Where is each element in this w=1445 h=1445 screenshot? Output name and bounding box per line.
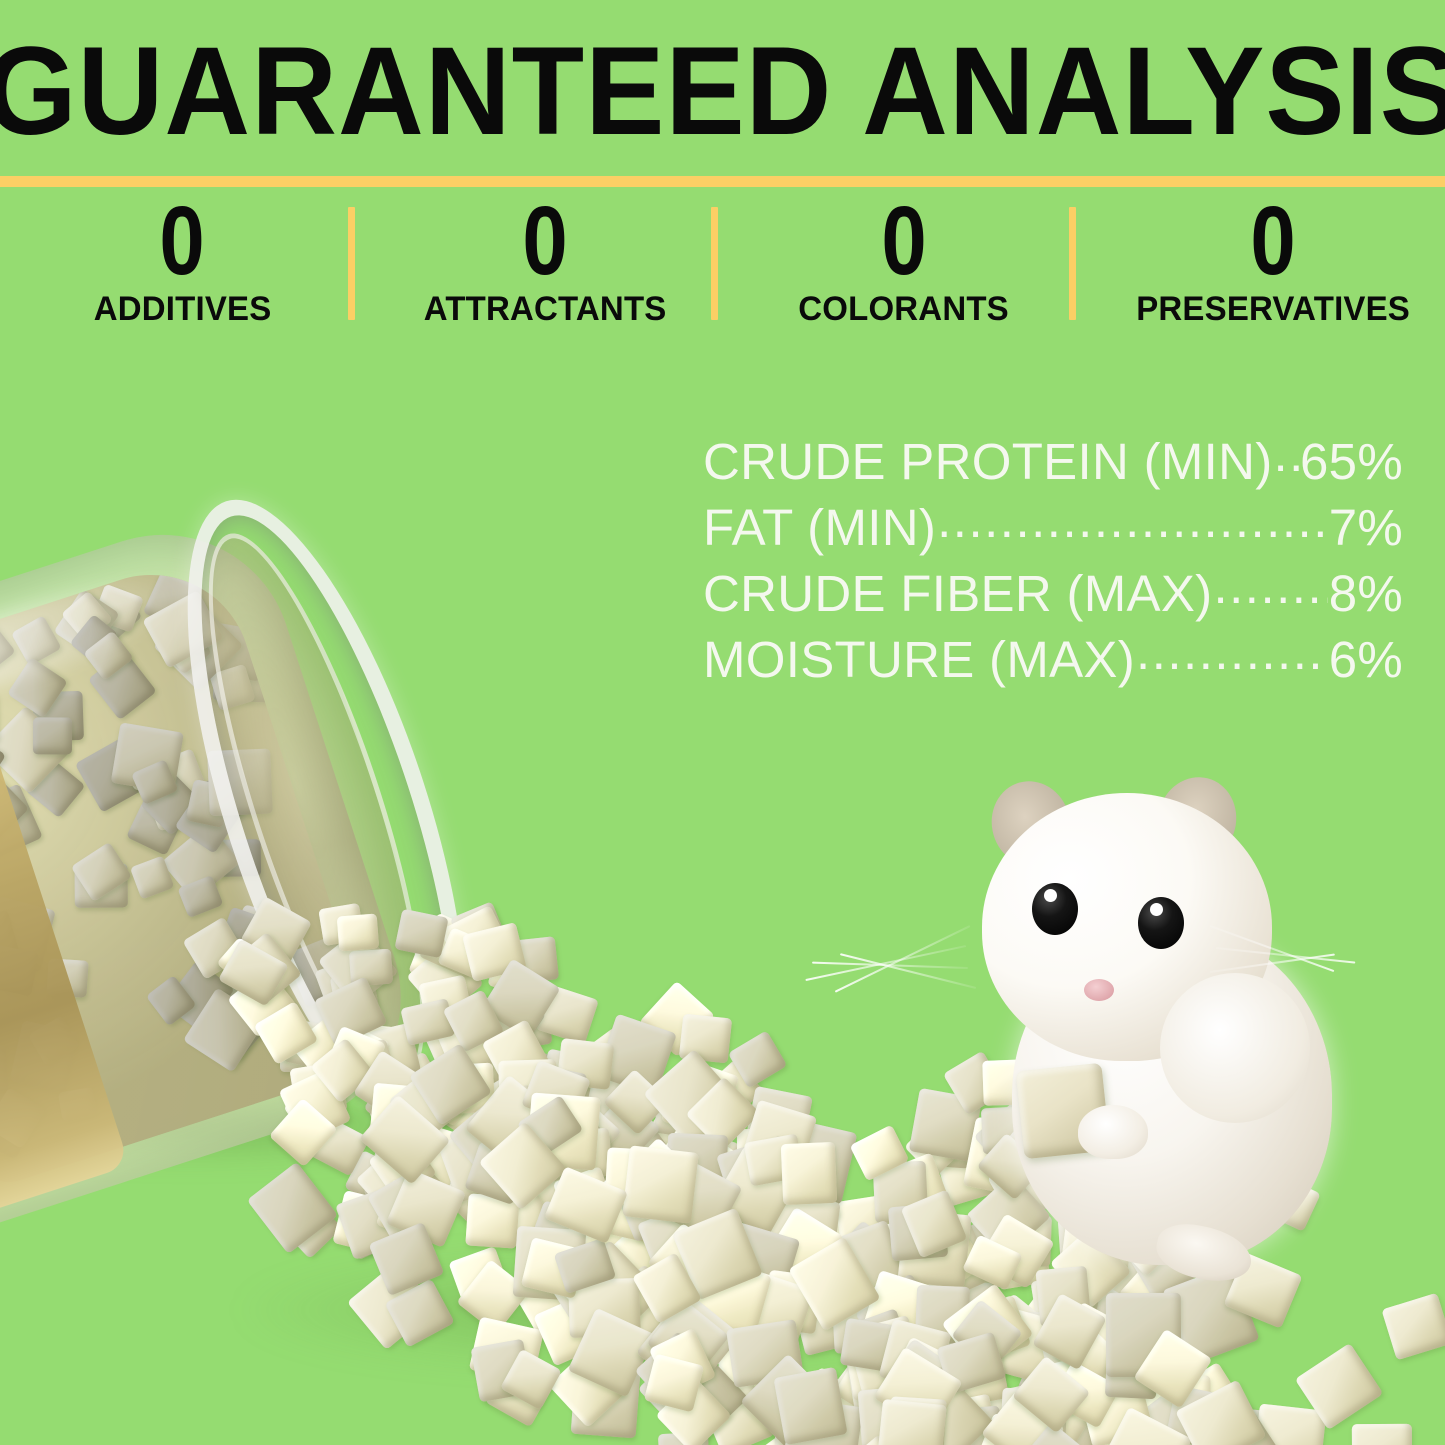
treat-cube (873, 1161, 929, 1224)
treat-cube (388, 1057, 476, 1143)
treat-cube (219, 839, 261, 876)
jar-body (0, 501, 434, 1254)
treat-cube (183, 988, 267, 1073)
treat-cube (1050, 1361, 1120, 1429)
treat-cube (1057, 1321, 1122, 1386)
treat-cube (521, 1059, 591, 1125)
treat-cube (874, 1393, 936, 1445)
stat-value: 0 (522, 196, 567, 286)
treat-cube (775, 1414, 829, 1445)
treat-cube (548, 1350, 625, 1428)
treat-cube (725, 1169, 792, 1236)
treat-cube (593, 1301, 666, 1372)
treat-cube (385, 1051, 447, 1114)
treat-cube (899, 1237, 971, 1308)
treat-cube (0, 1045, 8, 1096)
treat-cube (10, 1020, 79, 1093)
treat-cube (419, 1006, 482, 1070)
treat-cube (866, 1261, 925, 1324)
treat-cube (878, 1319, 951, 1392)
treat-cube (498, 1059, 557, 1114)
treat-cube (385, 1279, 455, 1348)
treat-cube (998, 1320, 1051, 1367)
treat-cube (126, 801, 183, 856)
treat-cube (448, 1097, 528, 1177)
treat-cube (1253, 1403, 1327, 1445)
treat-cube (685, 1076, 760, 1151)
treat-cube (1069, 1397, 1147, 1445)
treat-cube (927, 1307, 989, 1361)
hamster-paw (1078, 1105, 1148, 1159)
treat-cube (900, 1189, 966, 1258)
treat-cube (646, 1299, 729, 1382)
treat-cube (836, 1411, 904, 1445)
treat-cube (0, 944, 39, 996)
treat-cube (366, 1171, 438, 1244)
treat-cube (833, 1341, 917, 1425)
treat-cube (533, 1296, 599, 1366)
treat-cube (844, 1308, 914, 1376)
treat-cube (1057, 1211, 1110, 1263)
treat-cube (1031, 1273, 1096, 1331)
hamster-nose (1084, 979, 1114, 1001)
treat-cube (921, 1317, 1015, 1412)
treat-cube (982, 1126, 1067, 1209)
treat-cube (497, 1090, 574, 1167)
treat-cube (0, 776, 29, 843)
treat-cube (1076, 1355, 1150, 1421)
analysis-dot-leader (1136, 626, 1328, 677)
treat-cube (448, 1246, 510, 1307)
hamster-eye-glint-left (1044, 889, 1057, 902)
treat-cube (643, 1170, 718, 1245)
treat-cube (1106, 1293, 1181, 1377)
treat-cube (743, 1133, 804, 1185)
treat-cube (954, 1294, 1031, 1365)
treat-cube (1165, 1385, 1240, 1445)
treat-cube (844, 1336, 919, 1402)
treat-cube (614, 1170, 686, 1242)
treat-cube (754, 1224, 820, 1290)
treat-cube (973, 1090, 1075, 1193)
treat-cube (25, 758, 86, 818)
treat-cube (353, 1050, 425, 1122)
treat-cube (752, 1239, 823, 1310)
treat-cube (763, 1207, 844, 1289)
treat-cube (229, 931, 302, 1004)
treat-cube (470, 1339, 532, 1403)
treat-cube (345, 1022, 403, 1078)
treat-cube (970, 1299, 1049, 1373)
treat-cube (58, 1087, 97, 1121)
treat-cube (1055, 1419, 1145, 1445)
treat-cube (333, 1025, 392, 1083)
analysis-nutrient-value: 65% (1300, 429, 1403, 494)
treat-cube (815, 1356, 909, 1445)
treat-cube (174, 779, 246, 854)
treat-cube (844, 1336, 915, 1412)
treat-cube (681, 1286, 761, 1365)
treat-cube (914, 1284, 969, 1343)
treat-cube (652, 1134, 743, 1227)
treat-cube (1057, 1274, 1147, 1360)
treat-cube (1143, 1279, 1196, 1330)
treat-cube (746, 1428, 823, 1445)
treat-cube (1001, 1214, 1051, 1267)
treat-cube (83, 587, 142, 646)
treat-cube (0, 808, 10, 848)
treat-cube (661, 1057, 740, 1140)
treat-cube (704, 1275, 760, 1331)
treat-cube (416, 1059, 471, 1110)
treat-cube (126, 745, 169, 790)
treat-cube (862, 1270, 933, 1345)
stat-additives: 0 ADDITIVES (0, 196, 355, 336)
treat-cube (74, 863, 127, 907)
treat-cube (508, 1250, 596, 1334)
treat-cube (535, 984, 598, 1044)
treat-cube (285, 931, 363, 1007)
treat-cube (448, 1150, 527, 1231)
title-underline-rule (0, 176, 1445, 187)
treat-cube (363, 1073, 430, 1139)
analysis-row: FAT (MIN) 7% (703, 494, 1403, 560)
treat-cube (818, 1220, 911, 1314)
treat-cube (726, 1319, 804, 1387)
treat-cube (213, 643, 273, 702)
treat-cube (407, 941, 485, 1019)
treat-cube (230, 904, 299, 967)
treat-cube (724, 1309, 797, 1382)
treat-cube (970, 1413, 1054, 1445)
treat-cube (763, 1270, 824, 1335)
treat-cube (283, 1018, 341, 1072)
treat-cube (717, 1336, 788, 1412)
stat-value: 0 (160, 196, 205, 286)
stat-divider (711, 207, 718, 320)
treat-cube (188, 973, 278, 1063)
treat-cube (0, 726, 6, 805)
treat-cube (0, 896, 56, 973)
treat-cube (870, 1338, 973, 1442)
treat-cube (875, 1421, 978, 1445)
treat-cube (570, 1368, 640, 1438)
treat-cube (466, 1193, 520, 1248)
treat-cube (367, 1023, 421, 1082)
treat-cube (610, 1120, 673, 1183)
treat-cube (1119, 1252, 1206, 1338)
treat-cube (218, 939, 289, 1007)
stat-divider (348, 207, 355, 320)
treat-cube (774, 1367, 848, 1445)
analysis-dot-leader (1274, 428, 1300, 479)
treat-cube (552, 1167, 616, 1233)
stat-attractants: 0 ATTRACTANTS (355, 196, 718, 336)
treat-cube (567, 1307, 655, 1397)
treat-cube (650, 1197, 749, 1296)
stat-label: ATTRACTANTS (424, 292, 667, 326)
treat-cube (846, 1314, 927, 1400)
treat-cube (494, 1127, 574, 1208)
treat-cube (861, 1326, 960, 1425)
treat-cube (464, 1141, 528, 1205)
treat-cube (1079, 1377, 1154, 1445)
treat-cube (440, 905, 513, 975)
treat-cube (713, 1221, 800, 1307)
treat-cube (593, 1179, 666, 1244)
treat-cube (648, 1233, 732, 1317)
treat-cube (437, 927, 493, 980)
treat-cube (1134, 1329, 1213, 1409)
hamster-body (1012, 925, 1332, 1265)
treat-cube (762, 1228, 839, 1306)
treat-cube (111, 722, 184, 792)
treat-cube (318, 926, 398, 1007)
treat-cube (554, 1237, 617, 1293)
treat-cube (492, 1088, 558, 1154)
treat-cube (651, 1197, 713, 1257)
hamster-cheek (1160, 973, 1310, 1123)
treat-cube (632, 1252, 702, 1324)
treat-cube (667, 1118, 741, 1188)
treat-cube (940, 1338, 1009, 1407)
treat-cube (740, 1100, 817, 1180)
analysis-dot-leader (1213, 560, 1327, 611)
page-title-bar: GUARANTEED ANALYSIS (0, 0, 1445, 176)
treat-cube (1049, 1350, 1119, 1422)
treat-cube (462, 990, 521, 1048)
treat-cube (1035, 1265, 1091, 1326)
treat-cube (289, 1062, 347, 1119)
treat-cube (485, 1354, 557, 1427)
treat-cube (501, 936, 559, 985)
treat-cube (182, 917, 246, 980)
treat-cube (369, 1168, 443, 1238)
treat-cube (135, 749, 215, 833)
treat-cube (1223, 1252, 1302, 1328)
treat-cube (1175, 1380, 1267, 1445)
treat-cube (920, 1115, 973, 1169)
treat-cube (314, 976, 387, 1047)
treat-cube (1352, 1424, 1412, 1445)
treat-cube (642, 1215, 711, 1288)
treat-cube (698, 1059, 764, 1125)
treat-cube (227, 968, 298, 1039)
treat-cube (0, 620, 15, 682)
jar-rim (130, 470, 524, 1154)
treat-cube (0, 1084, 40, 1160)
treat-cube (831, 1287, 895, 1354)
treat-cube (888, 1203, 948, 1261)
treat-cube (400, 998, 455, 1046)
hamster-whisker (840, 953, 976, 989)
treat-cube (781, 1142, 838, 1206)
treat-cube (922, 1220, 1016, 1313)
treat-cube (164, 961, 235, 1034)
treat-cube (930, 1393, 1001, 1445)
treat-cube (440, 1154, 524, 1238)
treat-cube (909, 1088, 982, 1162)
treat-cube (1060, 1208, 1134, 1275)
treat-cube (46, 958, 88, 997)
treat-cube (318, 903, 364, 946)
treat-cube (1074, 1337, 1142, 1405)
hamster-foot (1152, 1218, 1257, 1289)
treat-cube (531, 1065, 588, 1121)
treat-cube (583, 1175, 645, 1237)
treat-cube (142, 590, 224, 668)
treat-cube (663, 1128, 738, 1202)
treat-cube (478, 1122, 566, 1211)
treat-cube (545, 1255, 614, 1326)
treat-cube (481, 1082, 576, 1177)
treat-cube (457, 1259, 531, 1334)
treat-cube (942, 1051, 1006, 1116)
treat-cube (872, 1152, 950, 1225)
treat-cube (1103, 1140, 1176, 1214)
treat-cube (806, 1238, 872, 1311)
treat-cube (656, 1377, 732, 1445)
treat-cube (927, 1278, 994, 1335)
treat-cube (873, 1347, 963, 1434)
treat-cube (897, 1209, 971, 1288)
treat-cube (140, 772, 204, 836)
treat-cube (1189, 1402, 1283, 1445)
treat-cube (642, 1100, 713, 1169)
treat-cube (705, 1157, 783, 1234)
treat-pile-shadow (230, 1250, 1030, 1370)
treat-cube (1295, 1343, 1384, 1430)
treat-cube (437, 1124, 515, 1203)
treat-cube (937, 1332, 1007, 1395)
treat-cube (404, 1122, 480, 1199)
treat-cube (568, 1277, 641, 1337)
treat-cube (370, 1083, 426, 1137)
treat-cube (538, 1049, 596, 1109)
treat-cube (739, 1266, 797, 1321)
treat-cube (177, 875, 223, 918)
treat-cube (702, 1194, 756, 1245)
treat-cube (554, 1160, 613, 1221)
treat-cube (653, 1121, 738, 1209)
analysis-row: MOISTURE (MAX) 6% (703, 626, 1403, 692)
stat-divider (1069, 207, 1076, 320)
treat-cube (1012, 1356, 1091, 1434)
treat-cube (0, 1087, 46, 1149)
treat-cube (344, 1149, 408, 1209)
treat-cube (1105, 1352, 1158, 1400)
treat-cube (239, 896, 311, 967)
treat-cube (638, 1338, 748, 1445)
treat-cube (761, 1202, 831, 1266)
treat-cube (464, 1074, 555, 1167)
treat-cube (737, 1129, 798, 1182)
treat-cube (33, 718, 72, 755)
treat-cube (507, 1125, 573, 1192)
jar-rim-inner (166, 514, 466, 1098)
treat-cube (75, 736, 151, 812)
treat-cube (1048, 1279, 1100, 1324)
treat-cube (977, 1132, 1045, 1200)
treat-cube (269, 1098, 338, 1167)
treat-cube (363, 1149, 427, 1210)
treat-cube (1168, 1420, 1222, 1445)
treat-cube (982, 1059, 1033, 1106)
treat-cube (784, 1367, 864, 1445)
treat-cube (408, 934, 468, 990)
treat-cube (1227, 1408, 1307, 1445)
analysis-row: CRUDE FIBER (MAX) 8% (703, 560, 1403, 626)
treat-cube (653, 1156, 743, 1243)
hamster-ear-right (1149, 769, 1245, 871)
treat-cube (435, 1012, 499, 1079)
treat-cube (574, 1223, 648, 1300)
treat-cube (565, 1027, 645, 1105)
analysis-nutrient-value: 8% (1329, 561, 1403, 626)
treat-cube (687, 1258, 772, 1341)
treat-cube (0, 705, 71, 793)
treat-cube (283, 1084, 340, 1141)
treat-cube (629, 1293, 708, 1369)
analysis-nutrient-name: CRUDE PROTEIN (MIN) (703, 429, 1273, 494)
treat-cube (419, 913, 490, 980)
treat-cube (957, 1312, 1019, 1370)
treat-cube (978, 1213, 1054, 1288)
treat-cube (976, 1293, 1060, 1377)
treat-cube (901, 1390, 968, 1445)
treat-cube (762, 1194, 840, 1264)
treat-cube (409, 1044, 492, 1126)
treat-cube (1055, 1290, 1145, 1382)
treat-cube (310, 1038, 376, 1104)
stat-label: ADDITIVES (94, 292, 272, 326)
jar-highlight (0, 561, 182, 720)
treat-cube (1162, 1265, 1259, 1366)
treat-cube (872, 1415, 949, 1445)
treat-cube (649, 1118, 741, 1209)
treat-jar: BIT (0, 452, 587, 1255)
treat-cube (605, 1147, 669, 1208)
treat-cube (0, 783, 43, 858)
treat-cube (71, 841, 132, 901)
treat-cube (981, 1106, 1041, 1155)
treat-cube (596, 1013, 677, 1096)
treat-cube (855, 1273, 951, 1368)
treat-cube (887, 1396, 946, 1445)
hamster (960, 775, 1360, 1280)
treat-cube (962, 1117, 1037, 1198)
treat-cube (216, 937, 270, 990)
treat-cube (724, 1340, 800, 1414)
treat-cube (32, 691, 84, 741)
treat-cube (280, 1033, 327, 1072)
treat-cube (731, 1269, 814, 1352)
treat-cube (1083, 1397, 1183, 1445)
treat-cube (757, 1188, 828, 1256)
treat-cube (622, 1145, 698, 1224)
treat-cube (88, 651, 157, 721)
treat-cube (521, 1237, 586, 1299)
hamster-eye-left (1032, 883, 1078, 935)
treat-cube (794, 1295, 852, 1356)
treat-cube (335, 1186, 409, 1260)
treat-cube (679, 1014, 732, 1064)
treat-cube (542, 1104, 608, 1169)
treat-cube (480, 959, 560, 1040)
treat-cube (1139, 1375, 1211, 1445)
treat-cube (670, 1165, 726, 1222)
treat-cube (418, 974, 474, 1034)
